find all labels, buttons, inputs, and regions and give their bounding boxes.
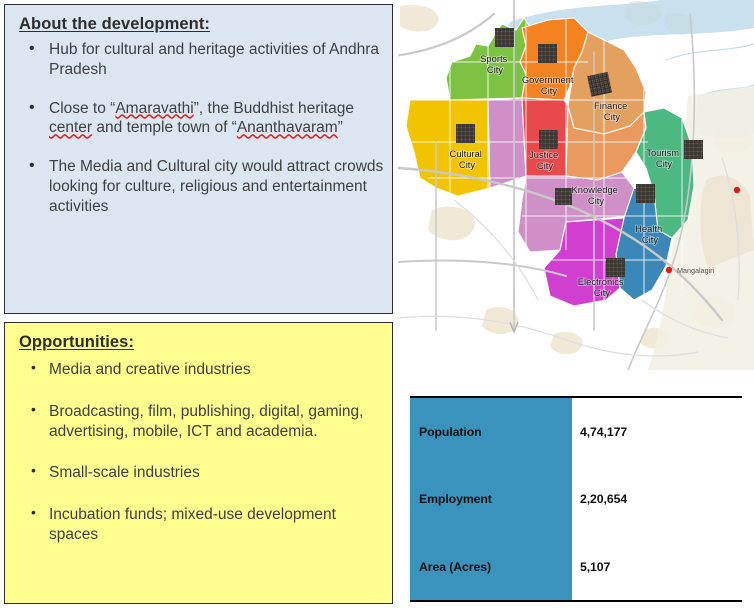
- opportunities-bullet-list: Media and creative industriesBroadcastin…: [19, 360, 384, 545]
- opportunities-box-title: Opportunities:: [19, 333, 384, 352]
- spell-check-underlined-text: Amaravathi: [115, 100, 193, 117]
- stats-row-value: 4,74,177: [572, 397, 742, 465]
- town-marker-right: [734, 187, 740, 193]
- bullet-text: ”, the Buddhist heritage: [194, 100, 354, 117]
- bullet-text: Incubation funds; mixed-use development …: [49, 506, 336, 543]
- stats-row: Area (Acres)5,107: [410, 533, 742, 601]
- map-svg: Sports City Government City Finance City…: [398, 0, 754, 370]
- spell-check-underlined-text: Ananthavaram: [237, 119, 338, 136]
- spell-check-underlined-text: center: [49, 119, 92, 136]
- bullet-text: ”: [338, 119, 343, 136]
- stats-row: Employment2,20,654: [410, 465, 742, 533]
- stats-row-value: 2,20,654: [572, 465, 742, 533]
- left-content-column: About the development: Hub for cultural …: [0, 0, 396, 608]
- opportunities-bullet-item: Incubation funds; mixed-use development …: [19, 505, 384, 545]
- stats-row: Population4,74,177: [410, 397, 742, 465]
- stats-row-label: Area (Acres): [410, 533, 572, 601]
- about-the-development-box: About the development: Hub for cultural …: [4, 4, 393, 314]
- key-statistics-table: Population4,74,177Employment2,20,654Area…: [410, 396, 742, 602]
- town-marker-mangalagiri: [666, 267, 672, 273]
- about-bullet-list: Hub for cultural and heritage activities…: [19, 40, 384, 217]
- stats-row-value: 5,107: [572, 533, 742, 601]
- opportunities-bullet-item: Small-scale industries: [19, 463, 384, 483]
- town-label-mangalagiri: Mangalagiri: [677, 266, 715, 275]
- bullet-text: Close to “: [49, 100, 115, 117]
- stats-row-label: Population: [410, 397, 572, 465]
- bullet-text: Broadcasting, film, publishing, digital,…: [49, 403, 363, 440]
- about-bullet-item: Hub for cultural and heritage activities…: [19, 40, 384, 80]
- stats-row-label: Employment: [410, 465, 572, 533]
- bullet-text: and temple town of “: [92, 119, 237, 136]
- bullet-text: Small-scale industries: [49, 464, 200, 481]
- bullet-text: Hub for cultural and heritage activities…: [49, 41, 379, 78]
- about-bullet-item: The Media and Cultural city would attrac…: [19, 157, 384, 216]
- opportunities-bullet-item: Media and creative industries: [19, 360, 384, 380]
- about-box-title: About the development:: [19, 15, 384, 34]
- opportunities-box: Opportunities: Media and creative indust…: [4, 322, 393, 604]
- about-bullet-item: Close to “Amaravathi”, the Buddhist heri…: [19, 99, 384, 139]
- key-statistics-panel: Population4,74,177Employment2,20,654Area…: [398, 370, 754, 608]
- opportunities-bullet-item: Broadcasting, film, publishing, digital,…: [19, 402, 384, 442]
- zone-knowledge-city-upper: [488, 98, 526, 188]
- capital-city-zoning-map: Sports City Government City Finance City…: [398, 0, 754, 370]
- bullet-text: The Media and Cultural city would attrac…: [49, 158, 383, 215]
- bullet-text: Media and creative industries: [49, 361, 251, 378]
